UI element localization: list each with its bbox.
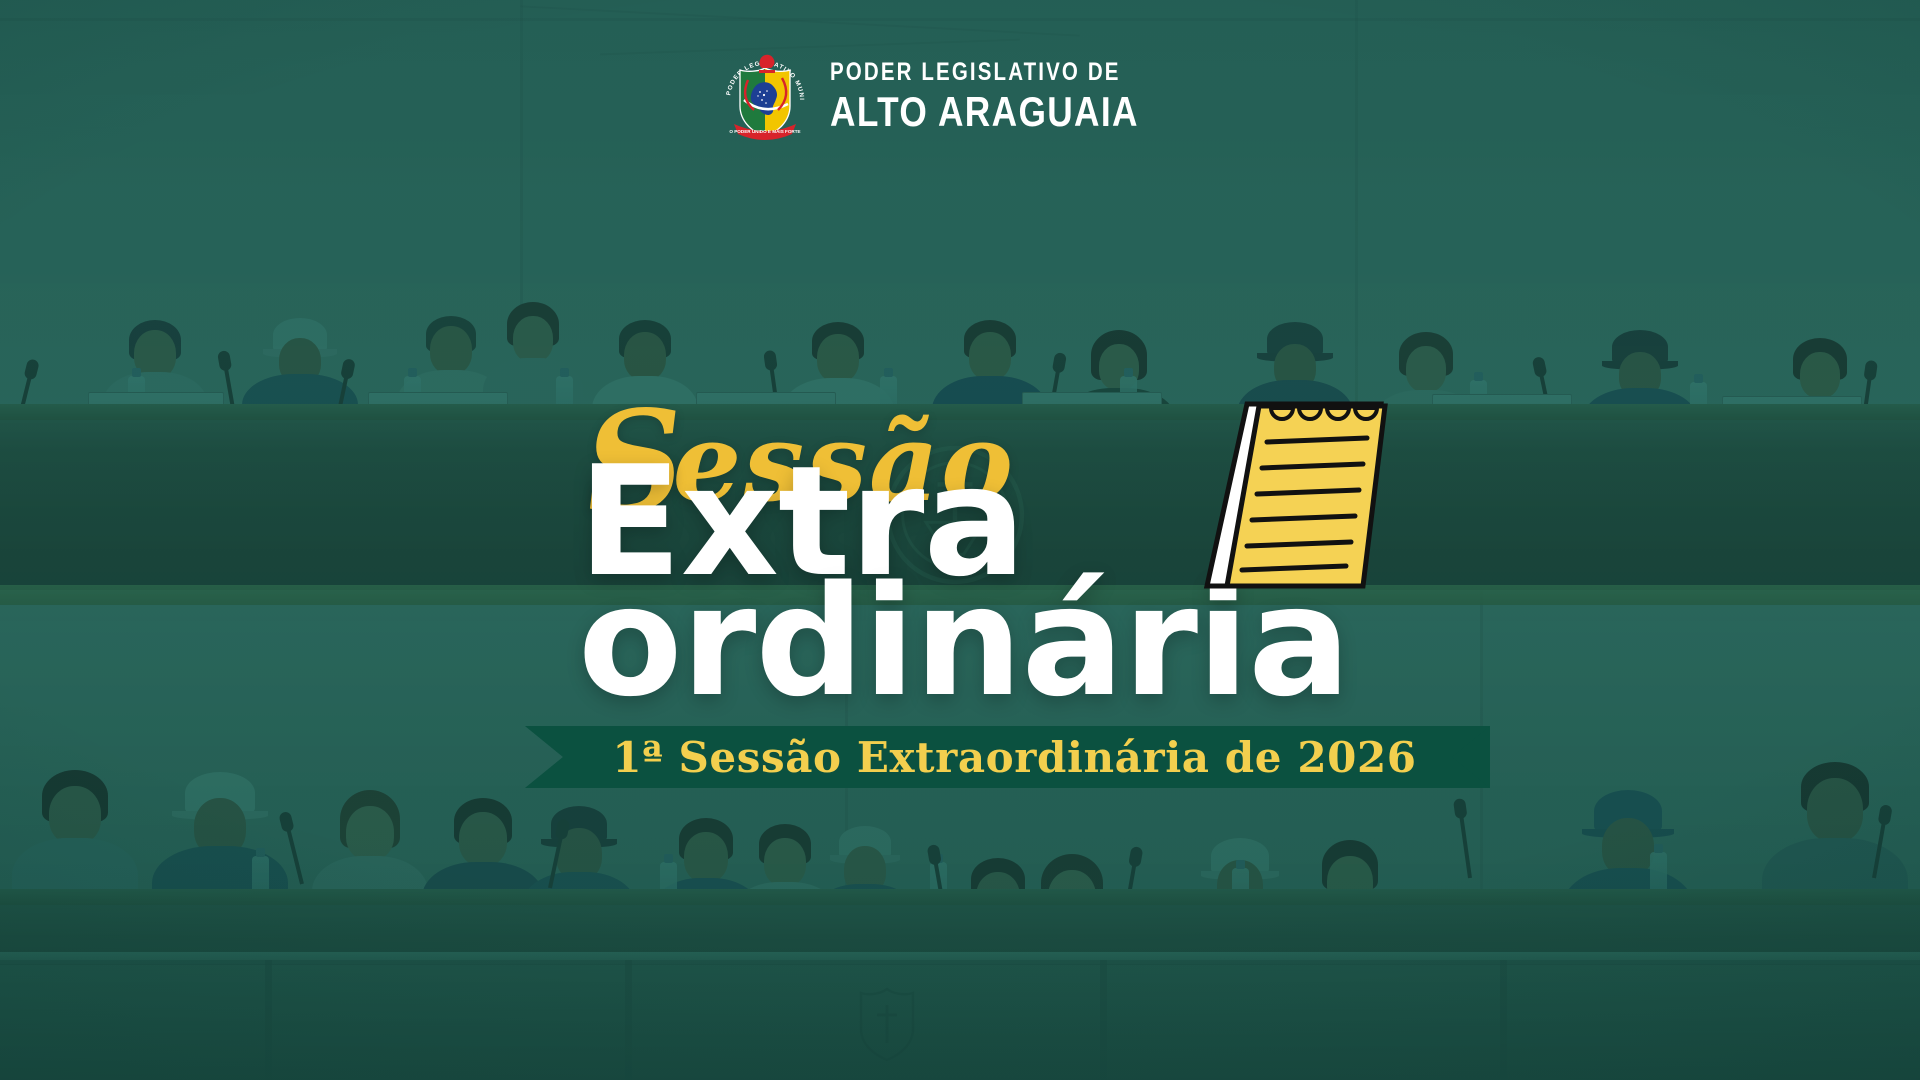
header-line-2: ALTO ARAGUAIA bbox=[830, 91, 1139, 133]
alto-araguaia-coat-of-arms-icon: PODER LEGISLATIVO MUNICIPAL bbox=[722, 48, 808, 144]
crest-motto-text: O PODER UNIDO E MAIS FORTE bbox=[730, 129, 801, 134]
header-logo-lockup: PODER LEGISLATIVO MUNICIPAL bbox=[0, 48, 1920, 144]
background-photo bbox=[0, 0, 1920, 1080]
vignette-overlay bbox=[0, 0, 1920, 1080]
poster-canvas: PODER LEGISLATIVO MUNICIPAL bbox=[0, 0, 1920, 1080]
header-line-1: PODER LEGISLATIVO DE bbox=[830, 60, 1131, 85]
header-logo-text: PODER LEGISLATIVO DE ALTO ARAGUAIA bbox=[830, 60, 1198, 133]
